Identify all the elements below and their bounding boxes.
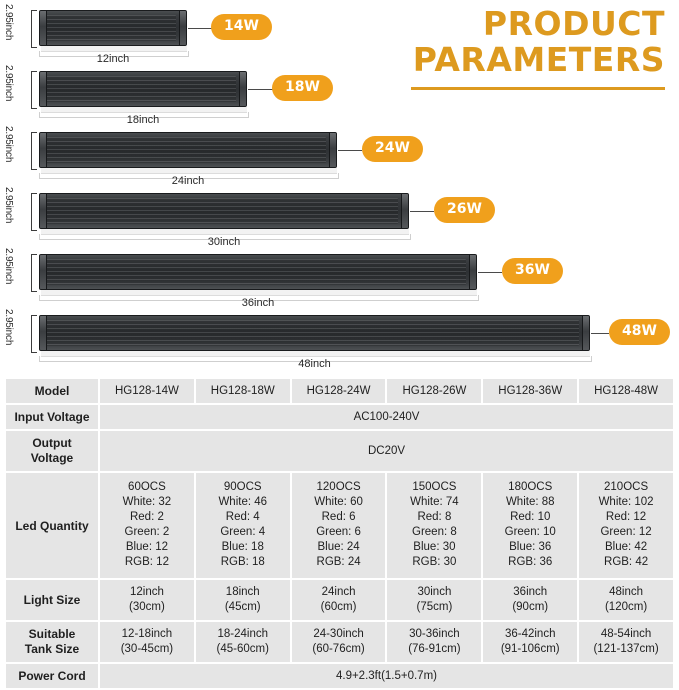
cell-led-6: 210OCS White: 102 Red: 12 Green: 12 Blue… (579, 473, 673, 578)
led-blue: Blue: 36 (485, 540, 575, 555)
cell-tank-size-5: 36-42inch (91-106cm) (483, 622, 577, 662)
height-bracket-26w (31, 193, 37, 231)
led-rgb: RGB: 30 (389, 555, 479, 570)
cell-light-size-2: 18inch (45cm) (196, 580, 290, 620)
led-rgb: RGB: 42 (581, 555, 671, 570)
cell-model-6: HG128-48W (579, 379, 673, 403)
watt-badge-36w: 36W (502, 258, 563, 284)
tank-size-cm: (76-91cm) (389, 642, 479, 657)
table-row-model: Model HG128-14W HG128-18W HG128-24W HG12… (6, 379, 673, 403)
title-underline (411, 87, 665, 90)
cell-light-size-5: 36inch (90cm) (483, 580, 577, 620)
row-label-led-quantity: Led Quantity (6, 473, 98, 578)
bar-end-cap-right (582, 316, 589, 350)
width-label-18w: 18inch (39, 114, 247, 126)
watt-badge-18w: 18W (272, 75, 333, 101)
led-red: Red: 8 (389, 510, 479, 525)
bar-end-cap-left (40, 316, 47, 350)
bar-end-cap-left (40, 11, 47, 45)
width-label-36w: 36inch (39, 297, 477, 309)
cell-led-3: 120OCS White: 60 Red: 6 Green: 6 Blue: 2… (292, 473, 386, 578)
tank-size-inch: 48-54inch (581, 627, 671, 642)
light-size-cm: (45cm) (198, 600, 288, 615)
width-label-14w: 12inch (39, 53, 187, 65)
title-line-1: PRODUCT (365, 6, 665, 42)
row-label-output-voltage: Output Voltage (6, 431, 98, 471)
cell-input-voltage-value: AC100-240V (100, 405, 673, 429)
cell-light-size-6: 48inch (120cm) (579, 580, 673, 620)
height-label-14w: 2.95inch (3, 4, 14, 40)
light-size-inch: 36inch (485, 585, 575, 600)
leader-line-14w (188, 28, 212, 29)
led-white: White: 74 (389, 495, 479, 510)
led-green: Green: 4 (198, 525, 288, 540)
bar-end-cap-left (40, 72, 47, 106)
cell-led-2: 90OCS White: 46 Red: 4 Green: 4 Blue: 18… (196, 473, 290, 578)
light-size-cm: (90cm) (485, 600, 575, 615)
cell-tank-size-4: 30-36inch (76-91cm) (387, 622, 481, 662)
leader-line-36w (478, 272, 502, 273)
led-bar-48w (39, 315, 590, 351)
watt-badge-48w: 48W (609, 319, 670, 345)
bar-end-cap-right (469, 255, 476, 289)
bar-end-cap-right (239, 72, 246, 106)
height-bracket-24w (31, 132, 37, 170)
light-size-cm: (60cm) (294, 600, 384, 615)
led-green: Green: 2 (102, 525, 192, 540)
light-size-inch: 48inch (581, 585, 671, 600)
bar-end-cap-left (40, 133, 47, 167)
cell-led-5: 180OCS White: 88 Red: 10 Green: 10 Blue:… (483, 473, 577, 578)
led-white: White: 102 (581, 495, 671, 510)
led-blue: Blue: 24 (294, 540, 384, 555)
tank-size-inch: 12-18inch (102, 627, 192, 642)
height-label-26w: 2.95inch (3, 187, 14, 223)
height-label-18w: 2.95inch (3, 65, 14, 101)
tank-size-cm: (30-45cm) (102, 642, 192, 657)
row-label-output-voltage-line1: Output (8, 436, 96, 451)
bar-texture (46, 15, 176, 41)
row-label-input-voltage: Input Voltage (6, 405, 98, 429)
bar-end-cap-right (401, 194, 408, 228)
height-bracket-48w (31, 315, 37, 353)
led-total: 210OCS (581, 480, 671, 495)
watt-badge-24w: 24W (362, 136, 423, 162)
leader-line-24w (338, 150, 362, 151)
cell-model-2: HG128-18W (196, 379, 290, 403)
row-label-tank-size-line1: Suitable (8, 627, 96, 642)
tank-size-inch: 18-24inch (198, 627, 288, 642)
cell-model-3: HG128-24W (292, 379, 386, 403)
led-red: Red: 6 (294, 510, 384, 525)
bar-texture (46, 137, 326, 163)
led-green: Green: 10 (485, 525, 575, 540)
leader-line-26w (410, 211, 434, 212)
cell-output-voltage-value: DC20V (100, 431, 673, 471)
led-rgb: RGB: 24 (294, 555, 384, 570)
led-rgb: RGB: 36 (485, 555, 575, 570)
specification-table: Model HG128-14W HG128-18W HG128-24W HG12… (4, 377, 675, 690)
led-bar-26w (39, 193, 409, 229)
led-red: Red: 2 (102, 510, 192, 525)
bar-texture (46, 259, 466, 285)
led-white: White: 88 (485, 495, 575, 510)
led-white: White: 32 (102, 495, 192, 510)
row-label-model: Model (6, 379, 98, 403)
led-bar-36w (39, 254, 477, 290)
row-label-tank-size-line2: Tank Size (8, 642, 96, 657)
bar-end-cap-right (329, 133, 336, 167)
bar-texture (46, 320, 579, 346)
cell-tank-size-2: 18-24inch (45-60cm) (196, 622, 290, 662)
row-label-output-voltage-line2: Voltage (8, 451, 96, 466)
led-white: White: 46 (198, 495, 288, 510)
height-label-24w: 2.95inch (3, 126, 14, 162)
cell-tank-size-3: 24-30inch (60-76cm) (292, 622, 386, 662)
height-bracket-14w (31, 10, 37, 48)
watt-badge-26w: 26W (434, 197, 495, 223)
height-label-48w: 2.95inch (3, 309, 14, 345)
cell-light-size-4: 30inch (75cm) (387, 580, 481, 620)
led-rgb: RGB: 18 (198, 555, 288, 570)
cell-model-4: HG128-26W (387, 379, 481, 403)
tank-size-inch: 24-30inch (294, 627, 384, 642)
height-bracket-36w (31, 254, 37, 292)
light-size-inch: 24inch (294, 585, 384, 600)
led-total: 150OCS (389, 480, 479, 495)
led-rgb: RGB: 12 (102, 555, 192, 570)
tank-size-inch: 30-36inch (389, 627, 479, 642)
watt-badge-14w: 14W (211, 14, 272, 40)
led-bar-18w (39, 71, 247, 107)
cell-tank-size-6: 48-54inch (121-137cm) (579, 622, 673, 662)
table-row-power-cord: Power Cord 4.9+2.3ft(1.5+0.7m) (6, 664, 673, 688)
height-label-36w: 2.95inch (3, 248, 14, 284)
width-label-24w: 24inch (39, 175, 337, 187)
tank-size-cm: (45-60cm) (198, 642, 288, 657)
led-green: Green: 12 (581, 525, 671, 540)
bar-end-cap-left (40, 255, 47, 289)
bar-end-cap-left (40, 194, 47, 228)
cell-model-5: HG128-36W (483, 379, 577, 403)
led-blue: Blue: 18 (198, 540, 288, 555)
led-blue: Blue: 42 (581, 540, 671, 555)
leader-line-48w (591, 333, 609, 334)
cell-tank-size-1: 12-18inch (30-45cm) (100, 622, 194, 662)
light-size-inch: 30inch (389, 585, 479, 600)
table-row-output-voltage: Output Voltage DC20V (6, 431, 673, 471)
tank-size-inch: 36-42inch (485, 627, 575, 642)
table-row-input-voltage: Input Voltage AC100-240V (6, 405, 673, 429)
led-red: Red: 4 (198, 510, 288, 525)
led-total: 180OCS (485, 480, 575, 495)
led-bar-24w (39, 132, 337, 168)
led-bar-14w (39, 10, 187, 46)
title-line-2: PARAMETERS (365, 42, 665, 78)
row-label-power-cord: Power Cord (6, 664, 98, 688)
width-label-26w: 30inch (39, 236, 409, 248)
led-blue: Blue: 12 (102, 540, 192, 555)
led-total: 90OCS (198, 480, 288, 495)
table-row-led-quantity: Led Quantity 60OCS White: 32 Red: 2 Gree… (6, 473, 673, 578)
led-red: Red: 12 (581, 510, 671, 525)
table-row-light-size: Light Size 12inch (30cm) 18inch (45cm) 2… (6, 580, 673, 620)
cell-light-size-3: 24inch (60cm) (292, 580, 386, 620)
led-blue: Blue: 30 (389, 540, 479, 555)
tank-size-cm: (60-76cm) (294, 642, 384, 657)
cell-model-1: HG128-14W (100, 379, 194, 403)
led-red: Red: 10 (485, 510, 575, 525)
led-green: Green: 8 (389, 525, 479, 540)
leader-line-18w (248, 89, 273, 90)
light-size-cm: (120cm) (581, 600, 671, 615)
row-label-tank-size: Suitable Tank Size (6, 622, 98, 662)
bar-end-cap-right (179, 11, 186, 45)
led-white: White: 60 (294, 495, 384, 510)
bar-texture (46, 198, 398, 224)
product-illustration: PRODUCT PARAMETERS 2.95inch 12inch 14W 2… (0, 0, 679, 372)
led-total: 120OCS (294, 480, 384, 495)
page-title: PRODUCT PARAMETERS (365, 6, 665, 90)
led-total: 60OCS (102, 480, 192, 495)
light-size-cm: (30cm) (102, 600, 192, 615)
table-row-tank-size: Suitable Tank Size 12-18inch (30-45cm) 1… (6, 622, 673, 662)
bar-texture (46, 76, 236, 102)
tank-size-cm: (121-137cm) (581, 642, 671, 657)
tank-size-cm: (91-106cm) (485, 642, 575, 657)
row-label-light-size: Light Size (6, 580, 98, 620)
height-bracket-18w (31, 71, 37, 109)
light-size-cm: (75cm) (389, 600, 479, 615)
led-green: Green: 6 (294, 525, 384, 540)
width-label-48w: 48inch (39, 358, 590, 370)
cell-power-cord-value: 4.9+2.3ft(1.5+0.7m) (100, 664, 673, 688)
cell-led-1: 60OCS White: 32 Red: 2 Green: 2 Blue: 12… (100, 473, 194, 578)
cell-led-4: 150OCS White: 74 Red: 8 Green: 8 Blue: 3… (387, 473, 481, 578)
light-size-inch: 12inch (102, 585, 192, 600)
cell-light-size-1: 12inch (30cm) (100, 580, 194, 620)
light-size-inch: 18inch (198, 585, 288, 600)
